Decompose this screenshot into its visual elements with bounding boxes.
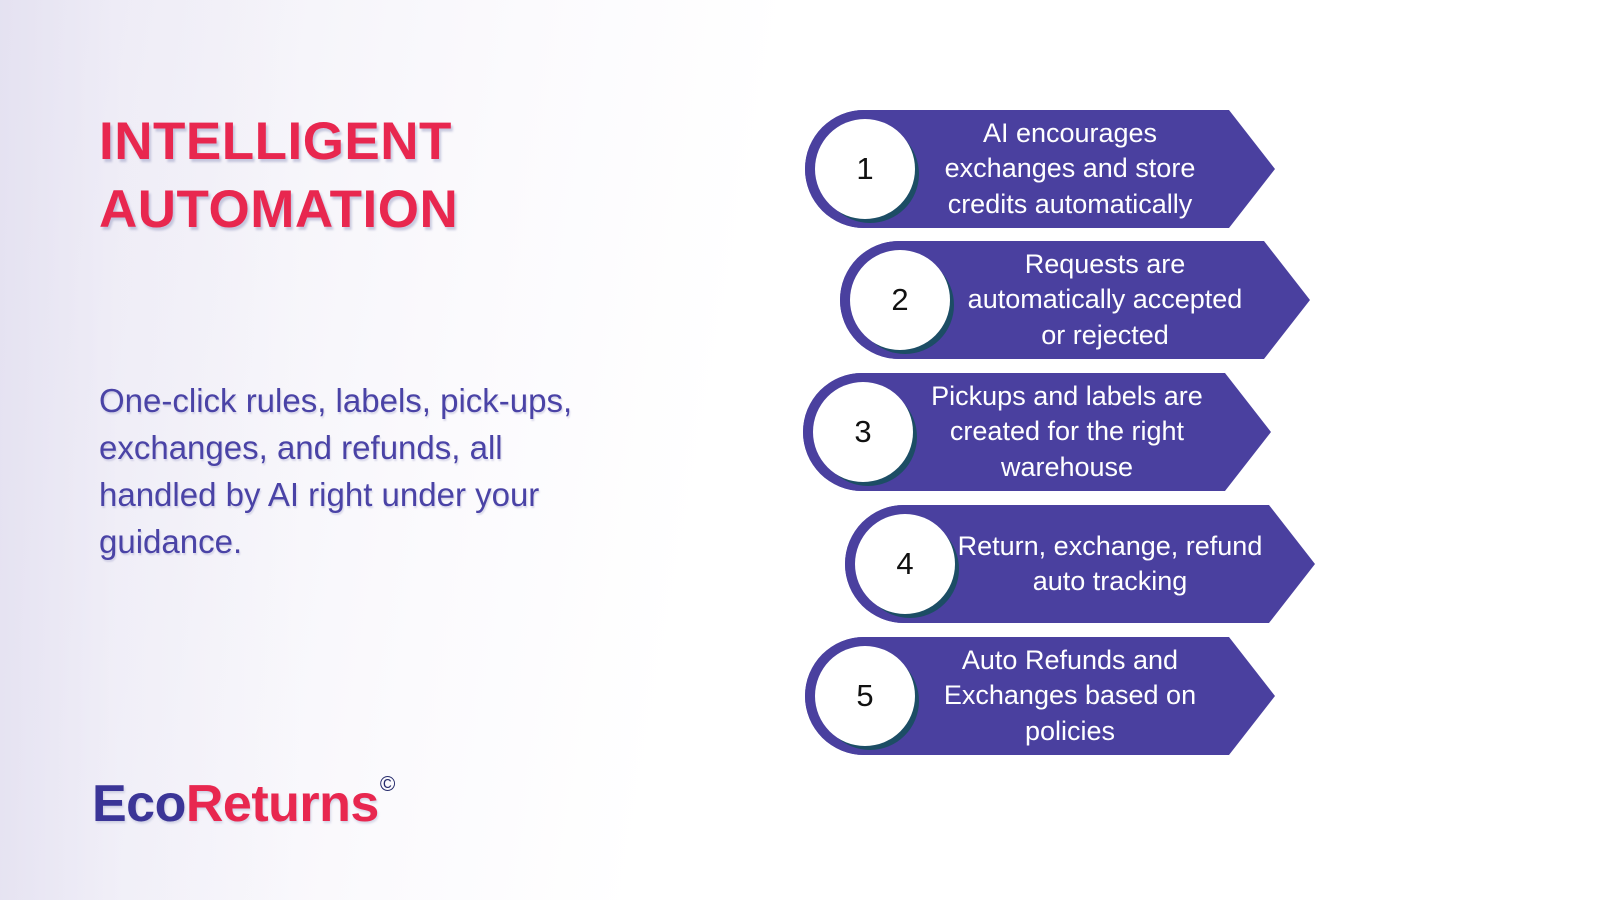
subheading-paragraph: One-click rules, labels, pick-ups, excha…: [99, 378, 629, 565]
slide-canvas: INTELLIGENT AUTOMATION One-click rules, …: [0, 0, 1600, 900]
banner-number-badge: 1: [815, 119, 915, 219]
banner-number-badge: 2: [850, 250, 950, 350]
headline-block: INTELLIGENT AUTOMATION: [99, 108, 719, 244]
page-title-line-1: INTELLIGENT: [99, 108, 719, 176]
feature-banner-1[interactable]: 1 AI encourages exchanges and store cred…: [805, 110, 1275, 228]
banner-number-badge: 4: [855, 514, 955, 614]
page-title-line-2: AUTOMATION: [99, 176, 719, 244]
logo-text-returns: Returns: [186, 775, 379, 833]
feature-banner-5[interactable]: 5 Auto Refunds and Exchanges based on po…: [805, 637, 1275, 755]
banner-number-badge: 5: [815, 646, 915, 746]
copyright-icon: ©: [380, 773, 395, 796]
banner-number-badge: 3: [813, 382, 913, 482]
ecoreturns-logo: EcoReturns©: [92, 778, 394, 830]
page-title: INTELLIGENT AUTOMATION: [99, 108, 719, 244]
feature-banner-2[interactable]: 2 Requests are automatically accepted or…: [840, 241, 1310, 359]
logo-text-eco: Eco: [92, 775, 186, 833]
feature-banner-3[interactable]: 3 Pickups and labels are created for the…: [803, 373, 1271, 491]
feature-banner-4[interactable]: 4 Return, exchange, refund auto tracking: [845, 505, 1315, 623]
